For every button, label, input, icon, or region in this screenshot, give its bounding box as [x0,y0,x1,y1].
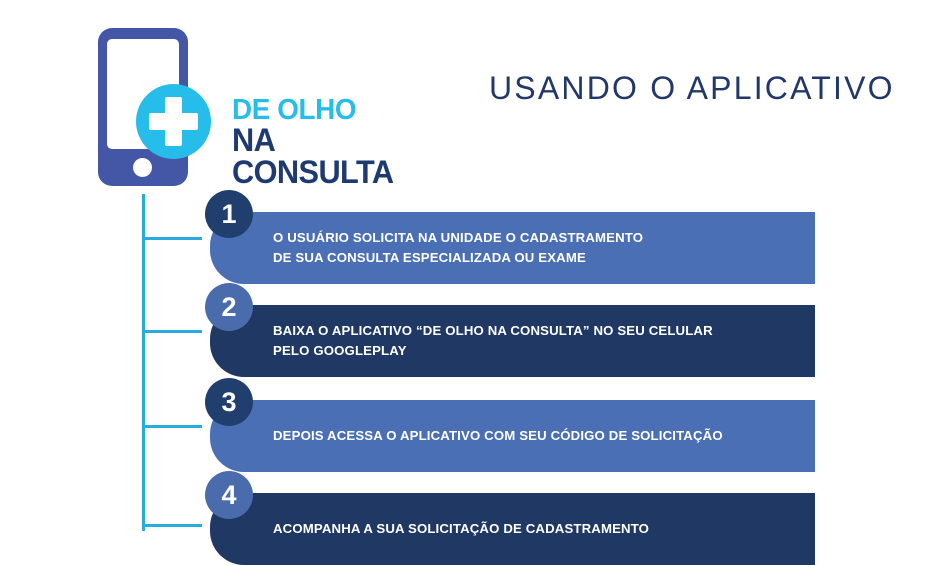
step-1-line-1: O USUÁRIO SOLICITA NA UNIDADE O CADASTRA… [273,228,803,248]
step-text-3: DEPOIS ACESSA O APLICATIVO COM SEU CÓDIG… [273,400,803,472]
step-2-line-1: BAIXA O APLICATIVO “DE OLHO NA CONSULTA”… [273,321,803,341]
step-number-badge-3: 3 [205,378,253,426]
steps-list: O USUÁRIO SOLICITA NA UNIDADE O CADASTRA… [0,0,930,560]
step-number-badge-1: 1 [205,190,253,238]
step-4-line-1: ACOMPANHA A SUA SOLICITAÇÃO DE CADASTRAM… [273,519,803,539]
step-text-4: ACOMPANHA A SUA SOLICITAÇÃO DE CADASTRAM… [273,493,803,565]
step-2-line-2: PELO GOOGLEPLAY [273,341,803,361]
step-text-1: O USUÁRIO SOLICITA NA UNIDADE O CADASTRA… [273,212,803,284]
step-number-badge-4: 4 [205,471,253,519]
step-text-2: BAIXA O APLICATIVO “DE OLHO NA CONSULTA”… [273,305,803,377]
infographic-canvas: DE OLHO NA CONSULTA USANDO O APLICATIVO … [0,0,930,560]
step-1-line-2: DE SUA CONSULTA ESPECIALIZADA OU EXAME [273,248,803,268]
step-3-line-1: DEPOIS ACESSA O APLICATIVO COM SEU CÓDIG… [273,426,803,446]
step-number-badge-2: 2 [205,283,253,331]
